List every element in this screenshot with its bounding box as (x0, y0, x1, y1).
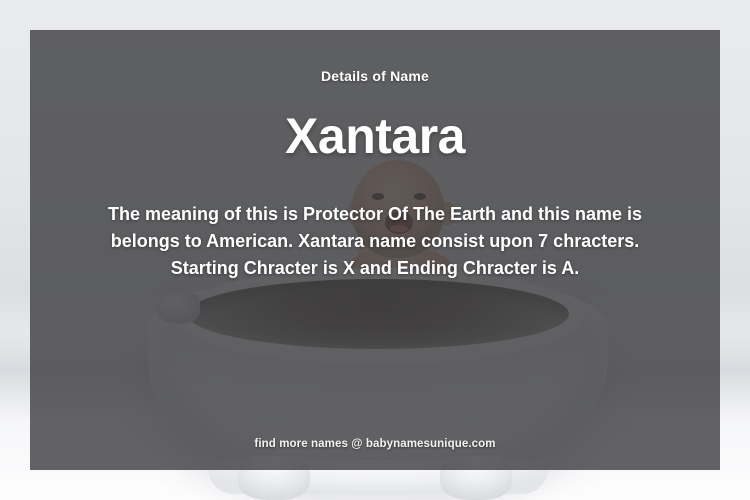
page-title: Xantara (285, 110, 465, 163)
name-description: The meaning of this is Protector Of The … (91, 201, 659, 282)
name-details-card-canvas: Details of Name Xantara The meaning of t… (0, 0, 750, 500)
card-kicker: Details of Name (321, 68, 429, 84)
footer-attribution: find more names @ babynamesunique.com (254, 438, 495, 450)
details-overlay-panel: Details of Name Xantara The meaning of t… (30, 30, 720, 470)
